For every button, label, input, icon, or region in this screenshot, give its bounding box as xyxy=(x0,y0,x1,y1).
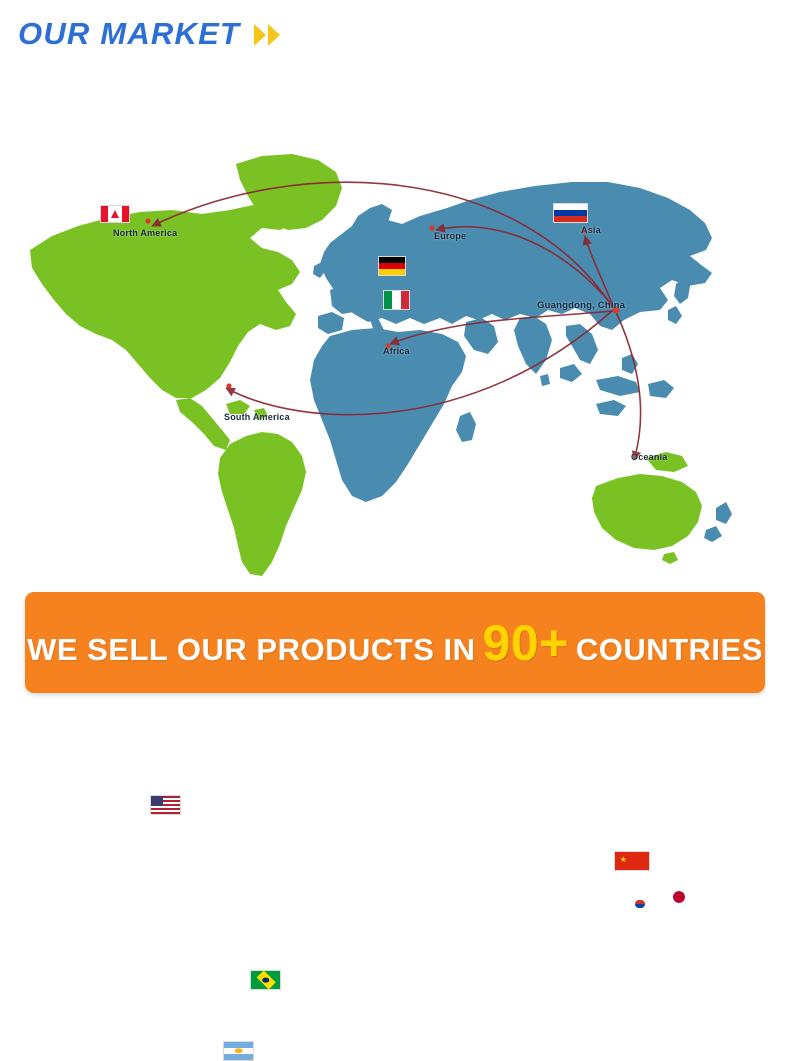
canada-flag-right-bar xyxy=(122,206,129,222)
map-label-north-america: North America xyxy=(113,228,177,238)
brazil-flag-globe xyxy=(262,978,270,983)
marker-europe xyxy=(429,225,434,230)
germany-flag xyxy=(378,256,406,276)
map-label-oceania: Oceania xyxy=(631,452,667,462)
map-label-guangdong-china: Guangdong, China xyxy=(537,300,625,311)
italy-flag-green-band xyxy=(384,291,392,309)
japan-flag xyxy=(673,891,685,903)
japan-flag-disc xyxy=(673,891,685,903)
map-label-europe: Europe xyxy=(434,231,466,241)
argentina-flag xyxy=(223,1041,254,1061)
page-title: OUR MARKET xyxy=(18,18,240,49)
china-flag: ★ xyxy=(614,851,650,871)
promo-text-after: COUNTRIES xyxy=(576,632,763,668)
maple-leaf-icon xyxy=(111,210,119,218)
world-map: North America South America Europe Afric… xyxy=(0,68,790,580)
map-label-asia: Asia xyxy=(581,225,601,235)
south-korea-flag xyxy=(633,897,647,911)
canada-flag-center xyxy=(108,206,122,222)
canada-flag xyxy=(100,205,130,223)
russia-flag-red-band xyxy=(554,216,587,222)
germany-flag-gold-band xyxy=(379,269,405,275)
russia-flag xyxy=(553,203,588,223)
world-map-svg xyxy=(0,68,790,580)
header: OUR MARKET xyxy=(0,0,790,72)
us-flag-canton xyxy=(151,796,163,806)
marker-south-america xyxy=(226,383,231,388)
promo-banner: WE SELL OUR PRODUCTS IN 90+ COUNTRIES xyxy=(25,592,765,693)
chevron-right-icon-2 xyxy=(268,24,280,46)
promo-highlight-count: 90+ xyxy=(476,618,576,668)
italy-flag-white-band xyxy=(392,291,400,309)
map-label-south-america: South America xyxy=(224,412,290,422)
argentina-flag-bottom-band xyxy=(224,1054,253,1060)
title-row: OUR MARKET xyxy=(18,18,280,49)
market-infographic: OUR MARKET xyxy=(0,0,790,722)
canada-flag-left-bar xyxy=(101,206,108,222)
promo-text-before: WE SELL OUR PRODUCTS IN xyxy=(27,632,475,668)
brazil-flag xyxy=(250,970,281,990)
italy-flag xyxy=(383,290,410,310)
china-flag-stars: ★ xyxy=(620,856,627,862)
map-label-africa: Africa xyxy=(383,346,410,356)
promo-banner-text: WE SELL OUR PRODUCTS IN 90+ COUNTRIES xyxy=(27,618,763,668)
chevron-right-icon-1 xyxy=(254,24,266,46)
taegeuk-blue-half xyxy=(635,904,645,908)
united-states-flag xyxy=(150,795,181,815)
italy-flag-red-band xyxy=(401,291,409,309)
marker-north-america xyxy=(145,218,150,223)
double-chevron-right-icon xyxy=(254,24,280,46)
